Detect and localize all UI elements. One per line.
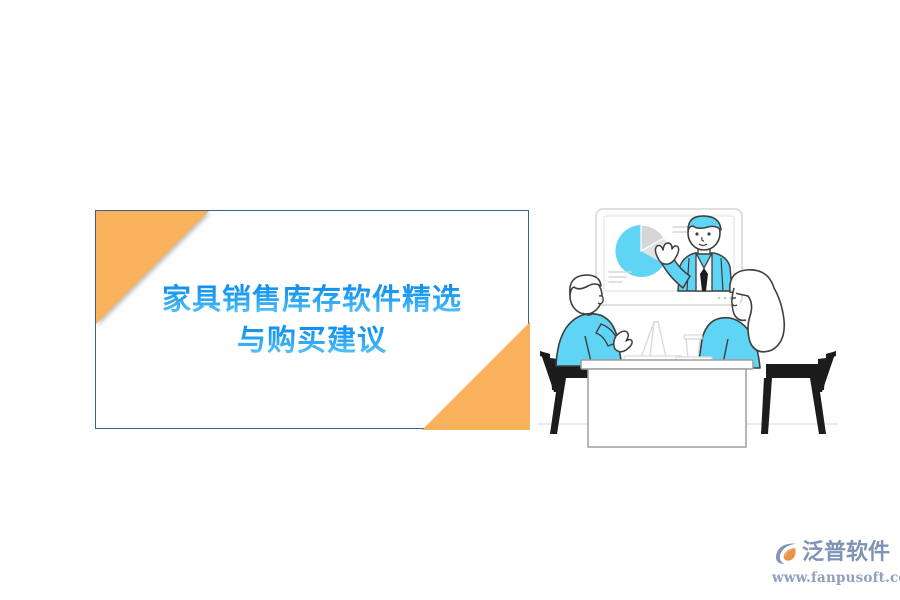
fanpu-swoosh-logo-icon <box>772 540 799 567</box>
logo-row: 泛普软件 <box>772 538 892 568</box>
page-title-line-2: 与购买建议 <box>237 321 387 359</box>
logo-wordmark: 泛普软件 <box>802 542 890 564</box>
title-card: 家具销售库存软件精选 与购买建议 <box>95 210 529 429</box>
chair-right <box>761 351 836 434</box>
screen-indicator-dots-icon <box>718 297 733 300</box>
video-conference-illustration <box>538 196 838 474</box>
meeting-table <box>581 360 753 447</box>
corner-accent-top-left-icon <box>96 211 209 324</box>
brand-logo[interactable]: 泛普软件 www.fanpusoft.com <box>772 538 892 590</box>
corner-accent-bottom-right-icon <box>422 322 530 430</box>
wall-display <box>596 209 742 305</box>
logo-url-text: www.fanpusoft.com <box>772 570 892 586</box>
